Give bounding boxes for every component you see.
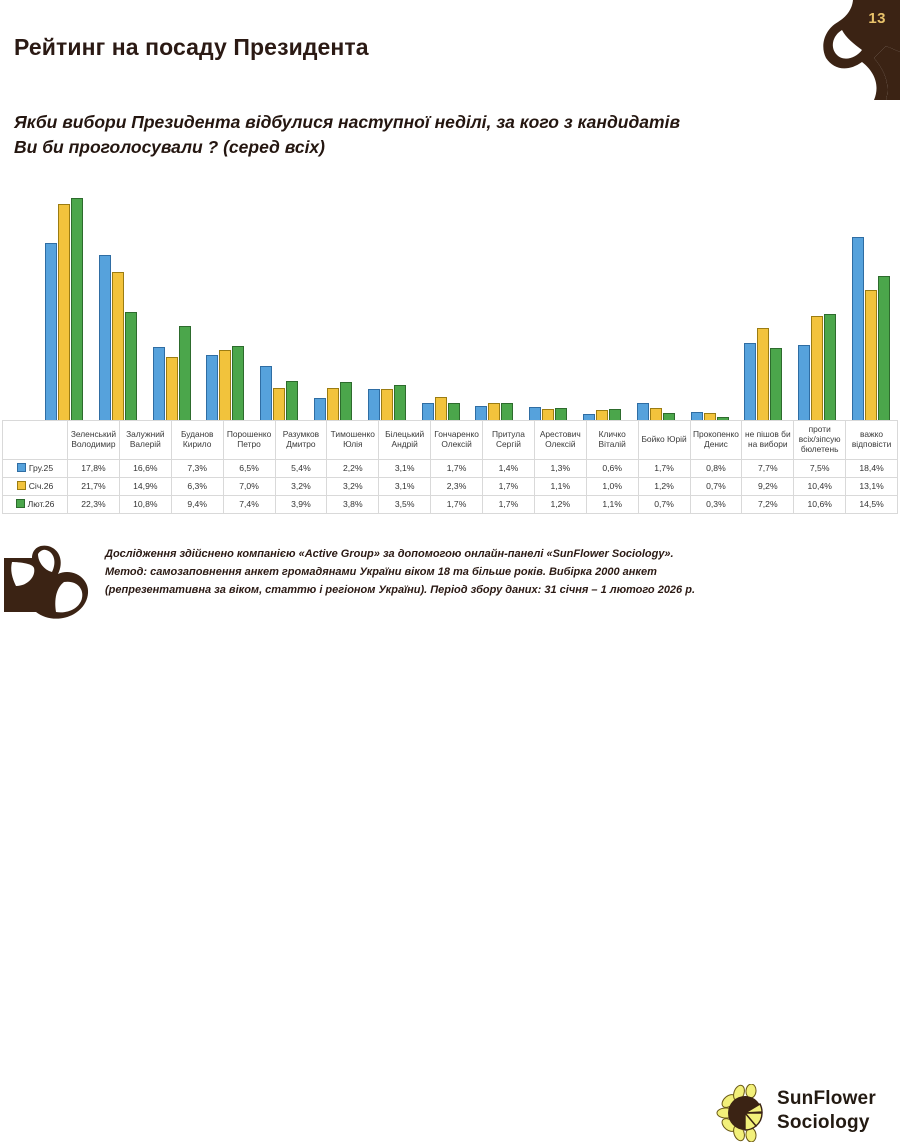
data-table-wrapper: ЗеленськийВолодимирЗалужнийВалерійБудано… — [2, 420, 898, 514]
bar-Лют.26-5 — [340, 382, 352, 420]
table-cell-value: 5,4% — [275, 460, 327, 478]
bar-group — [521, 186, 575, 420]
table-cell-value: 7,4% — [223, 496, 275, 514]
table-cell-value: 13,1% — [846, 478, 898, 496]
table-cell-value: 0,3% — [690, 496, 742, 514]
table-row: Гру.2517,8%16,6%7,3%6,5%5,4%2,2%3,1%1,7%… — [3, 460, 898, 478]
bar-group — [360, 186, 414, 420]
bar-group — [790, 186, 844, 420]
bar-group — [629, 186, 683, 420]
legend-swatch-icon — [17, 481, 26, 490]
bar-group — [145, 186, 199, 420]
bar-Січ.26-7 — [435, 397, 447, 420]
bar-Гру.25-9 — [529, 407, 541, 420]
bar-Січ.26-8 — [488, 403, 500, 420]
table-col-header: ЗеленськийВолодимир — [68, 421, 120, 460]
table-cell-value: 2,2% — [327, 460, 379, 478]
legend-item-Лют.26[interactable]: Лют.26 — [3, 496, 68, 514]
table-cell-value: 1,7% — [483, 478, 535, 496]
bar-Лют.26-9 — [555, 408, 567, 420]
table-cell-value: 1,2% — [638, 478, 690, 496]
bar-Січ.26-1 — [112, 272, 124, 420]
table-head: ЗеленськийВолодимирЗалужнийВалерійБудано… — [3, 421, 898, 460]
table-cell-value: 1,3% — [534, 460, 586, 478]
bar-Січ.26-15 — [865, 290, 877, 420]
table-cell-value: 14,9% — [119, 478, 171, 496]
bar-group — [306, 186, 360, 420]
table-cell-value: 1,7% — [483, 496, 535, 514]
methodology-line-3: (репрезентативна за віком, статтю і регі… — [105, 582, 685, 600]
page-title: Рейтинг на посаду Президента — [14, 34, 369, 61]
footer: Дослідження здійснено компанією «Active … — [0, 536, 900, 627]
table-cell-value: 3,1% — [379, 478, 431, 496]
page-number-badge: 13 — [868, 10, 886, 27]
bar-Гру.25-6 — [368, 389, 380, 420]
table-cell-value: 1,0% — [586, 478, 638, 496]
bar-group — [844, 186, 898, 420]
table-cell-value: 0,7% — [690, 478, 742, 496]
table-cell-value: 10,6% — [794, 496, 846, 514]
table-cell-value: 1,7% — [638, 460, 690, 478]
table-cell-value: 3,5% — [379, 496, 431, 514]
bar-Лют.26-4 — [286, 381, 298, 420]
table-row: Січ.2621,7%14,9%6,3%7,0%3,2%3,2%3,1%2,3%… — [3, 478, 898, 496]
sunflower-sociology-logo: SunFlower Sociology — [716, 1084, 896, 1146]
legend-swatch-icon — [17, 463, 26, 472]
table-cell-value: 3,2% — [327, 478, 379, 496]
table-cell-value: 1,1% — [534, 478, 586, 496]
bar-Лют.26-2 — [179, 326, 191, 420]
bar-Гру.25-5 — [314, 398, 326, 420]
legend-label: Січ.26 — [29, 481, 54, 491]
table-cell-value: 17,8% — [68, 460, 120, 478]
table-cell-value: 14,5% — [846, 496, 898, 514]
bar-Лют.26-0 — [71, 198, 83, 420]
data-table: ЗеленськийВолодимирЗалужнийВалерійБудано… — [2, 420, 898, 514]
logo-line-2: Sociology — [777, 1111, 876, 1135]
legend-label: Лют.26 — [28, 499, 55, 509]
table-col-header: РазумковДмитро — [275, 421, 327, 460]
table-cell-value: 7,7% — [742, 460, 794, 478]
table-col-header: ПритулаСергій — [483, 421, 535, 460]
bar-Січ.26-10 — [596, 410, 608, 420]
bar-group — [37, 186, 91, 420]
table-cell-value: 1,7% — [431, 496, 483, 514]
table-cell-value: 21,7% — [68, 478, 120, 496]
table-col-header: ПорошенкоПетро — [223, 421, 275, 460]
legend-swatch-icon — [16, 499, 25, 508]
bar-Лют.26-3 — [232, 346, 244, 420]
bar-Січ.26-11 — [650, 408, 662, 420]
table-cell-value: 1,2% — [534, 496, 586, 514]
table-cell-value: 9,4% — [171, 496, 223, 514]
table-col-header: противсіх/зіпсуюбюлетень — [794, 421, 846, 460]
table-cell-value: 0,7% — [638, 496, 690, 514]
chart-question-subtitle: Якби вибори Президента відбулися наступн… — [14, 110, 844, 161]
table-cell-value: 7,5% — [794, 460, 846, 478]
bar-Гру.25-12 — [691, 412, 703, 420]
table-cell-value: 7,3% — [171, 460, 223, 478]
legend-item-Січ.26[interactable]: Січ.26 — [3, 478, 68, 496]
table-body: Гру.2517,8%16,6%7,3%6,5%5,4%2,2%3,1%1,7%… — [3, 460, 898, 514]
table-row: Лют.2622,3%10,8%9,4%7,4%3,9%3,8%3,5%1,7%… — [3, 496, 898, 514]
bar-Лют.26-6 — [394, 385, 406, 420]
slide: 13 Рейтинг на посаду Президента Якби виб… — [0, 0, 900, 627]
bar-Січ.26-3 — [219, 350, 231, 420]
bar-Січ.26-4 — [273, 388, 285, 420]
table-cell-value: 7,0% — [223, 478, 275, 496]
bar-Січ.26-13 — [757, 328, 769, 420]
table-cell-value: 18,4% — [846, 460, 898, 478]
bar-Гру.25-15 — [852, 237, 864, 420]
bar-Лют.26-11 — [663, 413, 675, 420]
table-col-header: не пішов бина вибори — [742, 421, 794, 460]
bar-Гру.25-4 — [260, 366, 272, 420]
table-cell-value: 1,1% — [586, 496, 638, 514]
table-col-header: важковідповісти — [846, 421, 898, 460]
bar-Січ.26-12 — [704, 413, 716, 420]
table-col-header: БілецькийАндрій — [379, 421, 431, 460]
bar-Лют.26-10 — [609, 409, 621, 420]
bar-group — [198, 186, 252, 420]
table-cell-value: 3,9% — [275, 496, 327, 514]
logo-line-1: SunFlower — [777, 1087, 876, 1111]
bar-group — [414, 186, 468, 420]
bar-Гру.25-1 — [99, 255, 111, 420]
bar-group — [468, 186, 522, 420]
bar-group — [683, 186, 737, 420]
table-cell-value: 1,7% — [431, 460, 483, 478]
bar-Січ.26-5 — [327, 388, 339, 420]
bar-Січ.26-2 — [166, 357, 178, 420]
legend-label: Гру.25 — [29, 463, 53, 473]
bar-Лют.26-15 — [878, 276, 890, 420]
table-col-header: КличкоВіталій — [586, 421, 638, 460]
bar-group — [252, 186, 306, 420]
bar-Січ.26-9 — [542, 409, 554, 420]
bar-Лют.26-14 — [824, 314, 836, 420]
bar-group — [575, 186, 629, 420]
table-cell-value: 1,4% — [483, 460, 535, 478]
table-cell-value: 6,3% — [171, 478, 223, 496]
methodology-line-1: Дослідження здійснено компанією «Active … — [105, 546, 685, 564]
table-col-header: АрестовичОлексій — [534, 421, 586, 460]
methodology-note: Дослідження здійснено компанією «Active … — [105, 546, 685, 599]
table-header-row: ЗеленськийВолодимирЗалужнийВалерійБудано… — [3, 421, 898, 460]
sunflower-icon — [716, 1084, 774, 1142]
logo-wordmark: SunFlower Sociology — [777, 1087, 876, 1135]
subtitle-line-1: Якби вибори Президента відбулися наступн… — [14, 110, 844, 135]
table-col-header: ПрокопенкоДенис — [690, 421, 742, 460]
table-col-header: Бойко Юрій — [638, 421, 690, 460]
table-cell-value: 3,2% — [275, 478, 327, 496]
table-cell-value: 16,6% — [119, 460, 171, 478]
bar-Лют.26-7 — [448, 403, 460, 420]
table-cell-value: 0,8% — [690, 460, 742, 478]
bar-Гру.25-3 — [206, 355, 218, 420]
bar-Гру.25-14 — [798, 345, 810, 420]
bar-Гру.25-11 — [637, 403, 649, 420]
table-cell-value: 6,5% — [223, 460, 275, 478]
table-cell-value: 3,1% — [379, 460, 431, 478]
bar-Лют.26-8 — [501, 403, 513, 420]
bar-Лют.26-13 — [770, 348, 782, 420]
subtitle-line-2: Ви би проголосували ? (серед всіх) — [14, 135, 844, 160]
bar-Гру.25-8 — [475, 406, 487, 420]
bar-Січ.26-0 — [58, 204, 70, 420]
bar-Гру.25-0 — [45, 243, 57, 420]
bar-chart — [37, 186, 898, 420]
table-cell-value: 22,3% — [68, 496, 120, 514]
table-cell-value: 0,6% — [586, 460, 638, 478]
table-corner-cell — [3, 421, 68, 460]
table-cell-value: 10,4% — [794, 478, 846, 496]
table-cell-value: 3,8% — [327, 496, 379, 514]
legend-item-Гру.25[interactable]: Гру.25 — [3, 460, 68, 478]
bar-Гру.25-7 — [422, 403, 434, 420]
table-cell-value: 9,2% — [742, 478, 794, 496]
bar-Лют.26-1 — [125, 312, 137, 420]
table-col-header: ЗалужнийВалерій — [119, 421, 171, 460]
table-col-header: ТимошенкоЮлія — [327, 421, 379, 460]
bar-group — [91, 186, 145, 420]
bar-Гру.25-2 — [153, 347, 165, 420]
table-cell-value: 7,2% — [742, 496, 794, 514]
bar-group — [737, 186, 791, 420]
table-cell-value: 10,8% — [119, 496, 171, 514]
table-col-header: ГончаренкоОлексій — [431, 421, 483, 460]
bar-Гру.25-13 — [744, 343, 756, 420]
bar-Січ.26-14 — [811, 316, 823, 420]
methodology-line-2: Метод: самозаповнення анкет громадянами … — [105, 564, 685, 582]
table-cell-value: 2,3% — [431, 478, 483, 496]
footer-decoration-icon — [2, 542, 98, 622]
bar-Січ.26-6 — [381, 389, 393, 420]
chart-plot-area — [37, 186, 898, 420]
table-col-header: БудановКирило — [171, 421, 223, 460]
